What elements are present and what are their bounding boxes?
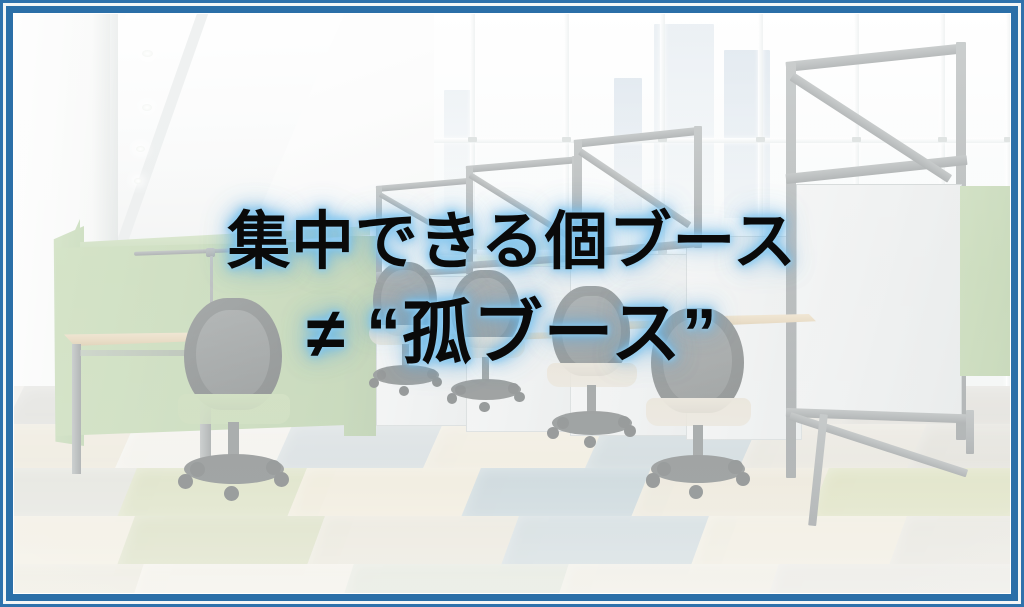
chair-caster [689, 485, 703, 499]
office-chair [366, 262, 445, 401]
chair-seat [369, 325, 443, 345]
chair-mesh [381, 270, 430, 328]
chair-caster [399, 386, 409, 396]
chair-mesh [196, 310, 270, 398]
downlight-icon [142, 50, 153, 57]
downlight-icon [134, 178, 142, 184]
mullion-clip [852, 137, 861, 142]
green-panel-far [960, 186, 1010, 376]
booth-frame-post [574, 140, 582, 262]
chair-caster [557, 417, 569, 429]
chair-mesh [459, 278, 511, 340]
chair-mesh [663, 319, 733, 402]
chair-caster [646, 473, 660, 487]
chair-seat [547, 363, 637, 387]
chair-caster [584, 436, 596, 448]
office-chair [544, 286, 640, 454]
chair-seat [447, 337, 525, 358]
desk-leg [72, 344, 81, 474]
chair-caster [618, 416, 630, 428]
mullion-clip [756, 137, 765, 142]
booth-frame-post [466, 166, 473, 272]
mullion-clip [938, 137, 947, 142]
banner-canvas: 集中できる個ブース ≠ “孤ブース” [0, 0, 1024, 607]
chair-caster [190, 462, 205, 477]
chair-caster [479, 402, 490, 413]
booth-frame-post [966, 410, 974, 454]
chair-caster [508, 383, 519, 394]
chair-caster [728, 460, 742, 474]
chair-caster [266, 460, 281, 475]
chair-seat [178, 394, 290, 424]
downlight-icon [136, 146, 145, 152]
chair-seat [646, 398, 751, 426]
chair-caster [369, 378, 379, 388]
chair-caster [427, 369, 437, 379]
downlight-icon [142, 104, 152, 111]
chair-caster [447, 393, 458, 404]
skyline-tower-4 [724, 50, 770, 218]
chair-caster [178, 474, 193, 489]
white-screen-panel [796, 184, 962, 416]
chair-mesh [562, 296, 621, 366]
chair-caster [455, 385, 466, 396]
mullion-clip [562, 137, 571, 142]
chair-caster [224, 486, 239, 501]
chair-caster [547, 427, 559, 439]
office-photo: 集中できる個ブース ≠ “孤ブース” [14, 14, 1010, 593]
office-chair [642, 308, 755, 505]
mullion-clip [1004, 137, 1010, 142]
office-chair [174, 298, 294, 508]
booth-frame-post [694, 126, 702, 248]
office-chair [444, 270, 528, 417]
mullion-clip [468, 137, 477, 142]
